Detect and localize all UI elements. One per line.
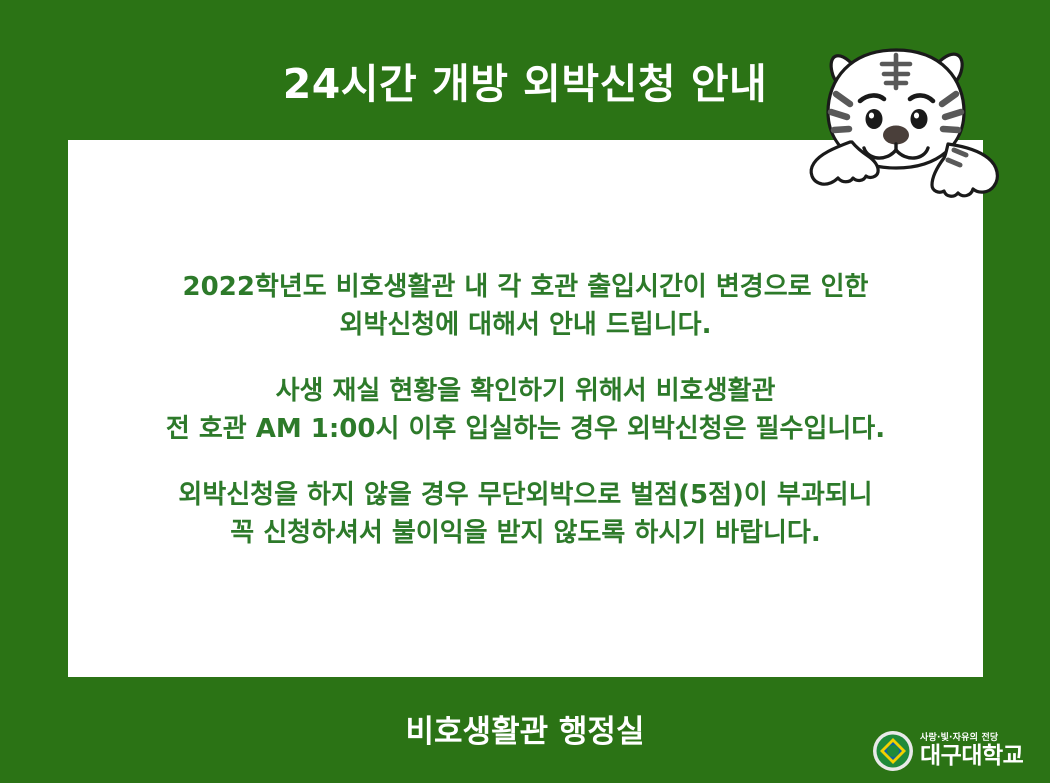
notice-poster: 24시간 개방 외박신청 안내 2022학년도 비호생활관 내 각 호관 출입시… (0, 0, 1050, 783)
university-logo-text: 사랑·빛·자유의 전당 대구대학교 (920, 734, 1023, 768)
university-emblem-icon (872, 730, 914, 772)
notice-paragraph: 사생 재실 현황을 확인하기 위해서 비호생활관 전 호관 AM 1:00시 이… (68, 372, 983, 448)
notice-line: 전 호관 AM 1:00시 이후 입실하는 경우 외박신청은 필수입니다. (68, 410, 983, 448)
notice-line: 외박신청을 하지 않을 경우 무단외박으로 벌점(5점)이 부과되니 (68, 476, 983, 514)
notice-paragraph: 2022학년도 비호생활관 내 각 호관 출입시간이 변경으로 인한 외박신청에… (68, 268, 983, 344)
university-tagline: 사랑·빛·자유의 전당 (920, 734, 1023, 743)
notice-line: 2022학년도 비호생활관 내 각 호관 출입시간이 변경으로 인한 (68, 268, 983, 306)
notice-card: 2022학년도 비호생활관 내 각 호관 출입시간이 변경으로 인한 외박신청에… (68, 140, 983, 677)
notice-line: 꼭 신청하셔서 불이익을 받지 않도록 하시기 바랍니다. (68, 514, 983, 552)
notice-paragraph: 외박신청을 하지 않을 경우 무단외박으로 벌점(5점)이 부과되니 꼭 신청하… (68, 476, 983, 552)
notice-line: 사생 재실 현황을 확인하기 위해서 비호생활관 (68, 372, 983, 410)
notice-body: 2022학년도 비호생활관 내 각 호관 출입시간이 변경으로 인한 외박신청에… (68, 268, 983, 552)
university-logo: 사랑·빛·자유의 전당 대구대학교 (872, 728, 1037, 774)
university-name: 대구대학교 (920, 745, 1023, 768)
white-tiger-mascot-icon (798, 22, 1050, 207)
notice-line: 외박신청에 대해서 안내 드립니다. (68, 306, 983, 344)
